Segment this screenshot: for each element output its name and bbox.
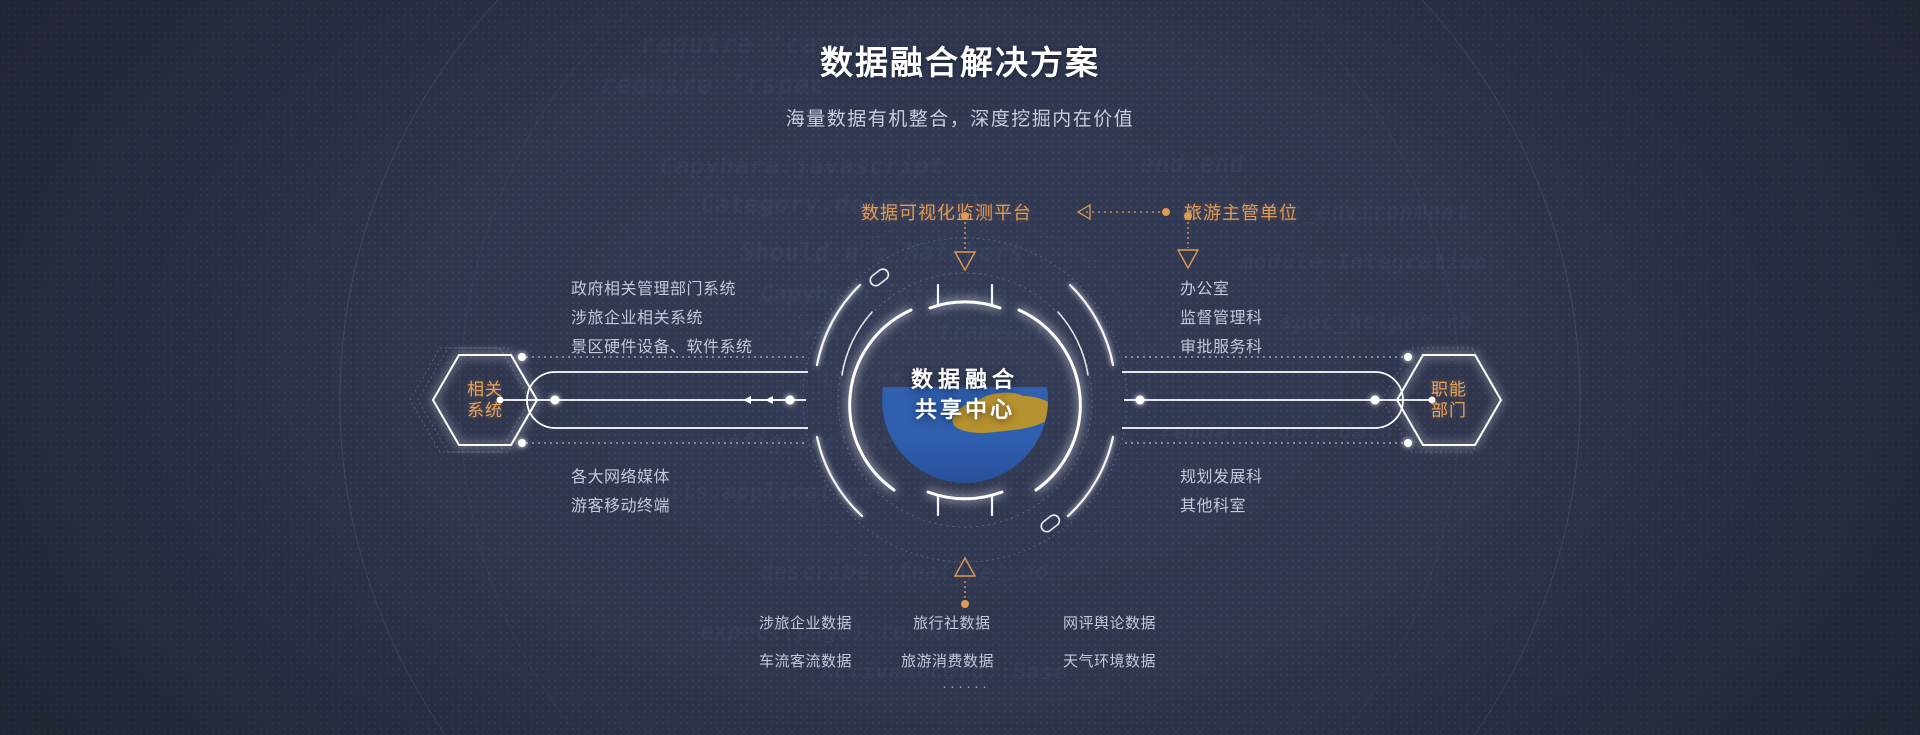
- left-hexagon-label: 相关 系统: [433, 355, 537, 445]
- bottom-item: 天气环境数据: [1063, 650, 1156, 671]
- list-item: 涉旅企业相关系统: [571, 304, 753, 333]
- list-item: 游客移动终端: [571, 492, 670, 521]
- bottom-item: 旅游消费数据: [901, 650, 994, 671]
- bottom-item: 涉旅企业数据: [759, 612, 852, 633]
- center-globe: [882, 317, 1048, 483]
- left-hexagon-line2: 系统: [467, 400, 503, 421]
- left-hexagon-line1: 相关: [467, 379, 503, 400]
- bottom-item: 网评舆论数据: [1063, 612, 1156, 633]
- list-item: 各大网络媒体: [571, 463, 670, 492]
- page-title: 数据融合解决方案: [0, 36, 1920, 84]
- right-hexagon-label: 职能 部门: [1397, 355, 1501, 445]
- left-top-list: 政府相关管理部门系统 涉旅企业相关系统 景区硬件设备、软件系统: [571, 275, 753, 362]
- right-hexagon-line2: 部门: [1431, 400, 1467, 421]
- right-top-list: 办公室 监督管理科 审批服务科: [1180, 275, 1263, 362]
- platform-label[interactable]: 数据可视化监测平台: [861, 199, 1032, 225]
- right-connector: [1122, 353, 1436, 447]
- top-horizontal-arrow: [1078, 205, 1170, 219]
- right-hexagon-line1: 职能: [1431, 379, 1467, 400]
- list-item: 政府相关管理部门系统: [571, 275, 753, 304]
- list-item: 办公室: [1180, 275, 1263, 304]
- authority-label[interactable]: 旅游主管单位: [1184, 199, 1298, 225]
- bottom-item: 车流客流数据: [759, 650, 852, 671]
- bottom-item: 旅行社数据: [913, 612, 991, 633]
- left-connector: [497, 353, 809, 447]
- list-item: 规划发展科: [1180, 463, 1263, 492]
- list-item: 其他科室: [1180, 492, 1263, 521]
- page-subtitle: 海量数据有机整合，深度挖掘内在价值: [0, 104, 1920, 131]
- right-bottom-list: 规划发展科 其他科室: [1180, 463, 1263, 521]
- bottom-arrow: [955, 558, 975, 608]
- list-item: 景区硬件设备、软件系统: [571, 333, 753, 362]
- list-item: 监督管理科: [1180, 304, 1263, 333]
- left-bottom-list: 各大网络媒体 游客移动终端: [571, 463, 670, 521]
- bottom-ellipsis: ······: [942, 678, 990, 695]
- right-hexagon[interactable]: 职能 部门: [1397, 355, 1501, 445]
- list-item: 审批服务科: [1180, 333, 1263, 362]
- left-hexagon[interactable]: 相关 系统: [433, 355, 537, 445]
- header: 数据融合解决方案 海量数据有机整合，深度挖掘内在价值: [0, 0, 1920, 131]
